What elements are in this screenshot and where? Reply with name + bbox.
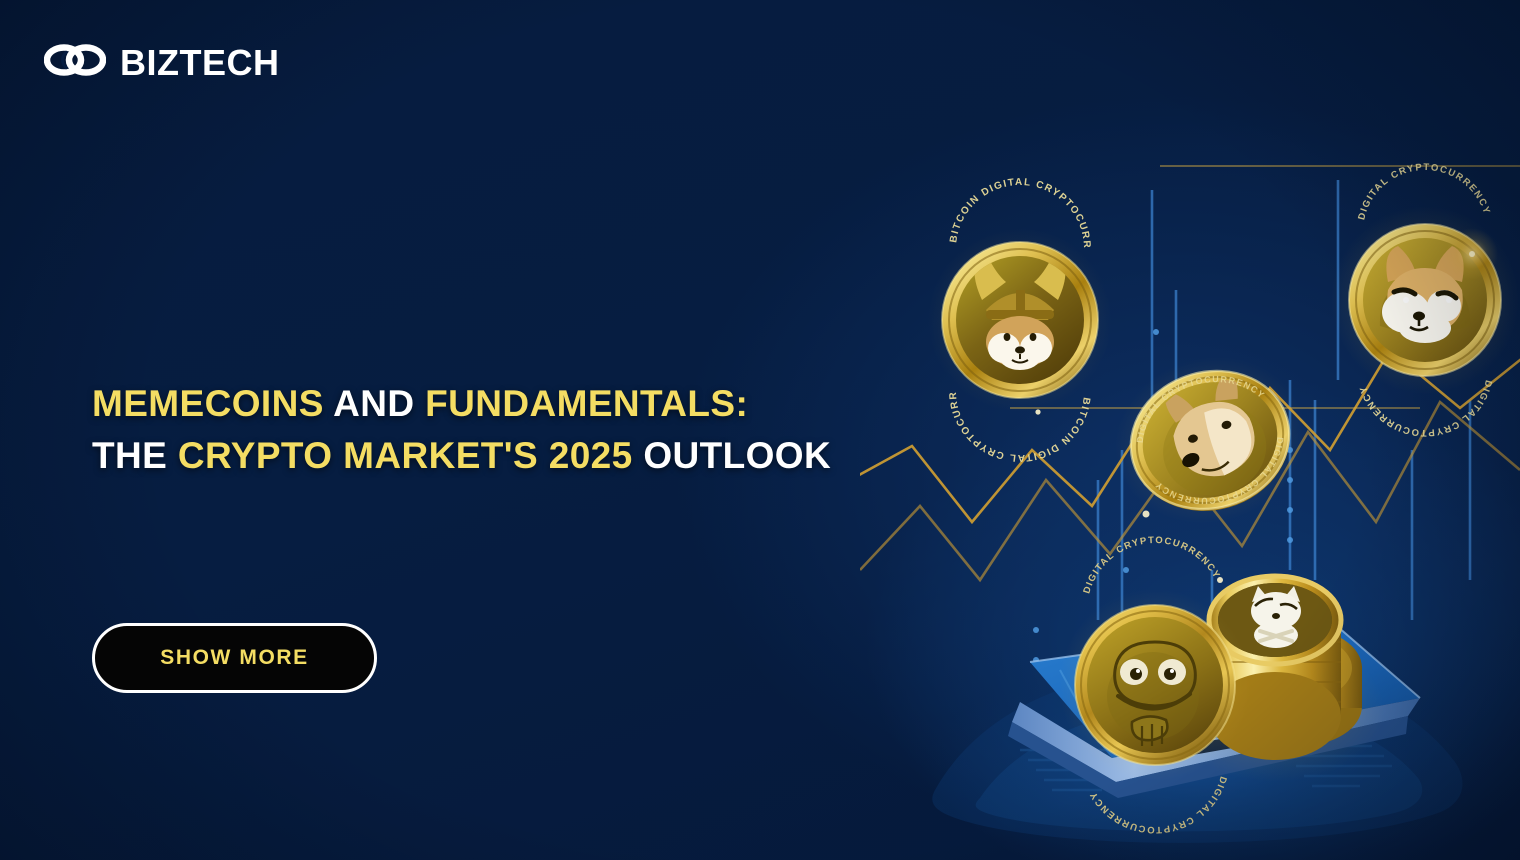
hero-banner: DIGITAL CRYPTOCURRENCY DIGITAL CRYPTOCUR…: [0, 0, 1520, 860]
show-more-button[interactable]: SHOW MORE: [92, 623, 377, 693]
headline-seg-and: AND: [324, 383, 425, 424]
interlocking-rings-logo-icon: [44, 44, 106, 81]
headline-line-2: THE CRYPTO MARKET'S 2025 OUTLOOK: [92, 430, 972, 482]
headline-seg-fundamentals: FUNDAMENTALS:: [425, 383, 748, 424]
svg-text:BITCOIN DIGITAL CRYPTOCURRENC: BITCOIN DIGITAL CRYPTOCURRENCY: [860, 150, 1092, 249]
headline-seg-the: THE: [92, 435, 178, 476]
crypto-illustration: DIGITAL CRYPTOCURRENCY DIGITAL CRYPTOCUR…: [860, 150, 1520, 860]
brand-logo[interactable]: BIZTECH: [44, 44, 280, 81]
headline-line-1: MEMECOINS AND FUNDAMENTALS:: [92, 378, 972, 430]
brand-name: BIZTECH: [120, 45, 280, 81]
headline-seg-crypto-market-2025: CRYPTO MARKET'S 2025: [178, 435, 633, 476]
headline-seg-memecoins: MEMECOINS: [92, 383, 324, 424]
headline-seg-outlook: OUTLOOK: [633, 435, 831, 476]
shiba-inu-coin: DIGITAL CRYPTOCURRENCY DIGITAL CRYPTOCUR…: [1331, 162, 1519, 438]
page-title: MEMECOINS AND FUNDAMENTALS: THE CRYPTO M…: [92, 378, 972, 482]
show-more-button-label: SHOW MORE: [160, 646, 309, 670]
